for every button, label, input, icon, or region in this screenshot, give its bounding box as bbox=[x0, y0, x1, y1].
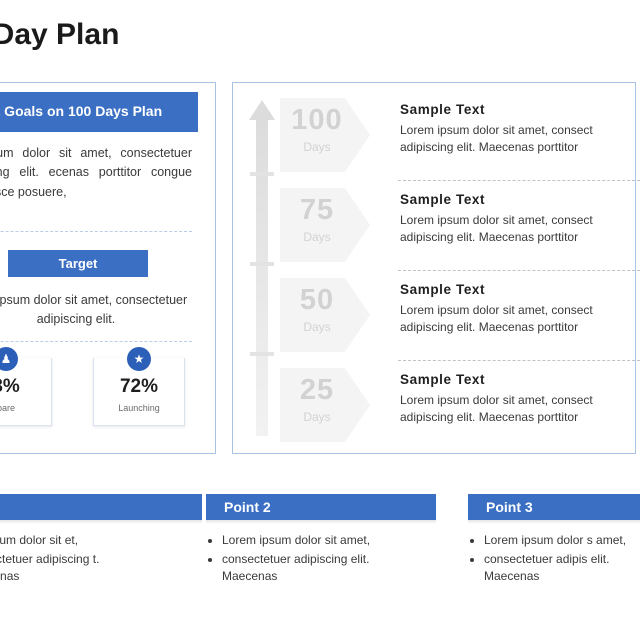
timeline-tick bbox=[250, 262, 274, 266]
arrow-head-icon bbox=[249, 100, 275, 120]
page-title: 0-Day Plan bbox=[0, 18, 119, 52]
point-header-1[interactable]: int 1 bbox=[0, 494, 202, 520]
point-list-3: Lorem ipsum dolor s amet, consectetuer a… bbox=[468, 532, 640, 587]
left-divider-2 bbox=[0, 341, 192, 342]
milestone-separator bbox=[398, 270, 640, 271]
milestone-title: Sample Text bbox=[400, 102, 485, 117]
milestone-title: Sample Text bbox=[400, 192, 485, 207]
point-header-shadow bbox=[206, 520, 436, 524]
milestone-item[interactable]: 100 Days Sample Text Lorem ipsum dolor s… bbox=[280, 94, 630, 184]
point-header-shadow bbox=[0, 520, 202, 524]
milestone-title: Sample Text bbox=[400, 372, 485, 387]
goal-header: et Goals on 100 Days Plan bbox=[0, 92, 198, 132]
timeline-tick bbox=[250, 172, 274, 176]
milestone-number: 50 bbox=[280, 284, 354, 317]
list-item: consectetuer adipiscing elit. Maecenas bbox=[222, 551, 416, 585]
milestone-unit: Days bbox=[280, 320, 354, 334]
left-divider-1 bbox=[0, 231, 192, 232]
stat-card[interactable]: ♟ 8% pare bbox=[0, 358, 52, 426]
list-item: consectetuer adipiscing t. Maecenas bbox=[0, 551, 128, 585]
point-header-3[interactable]: Point 3 bbox=[468, 494, 640, 520]
milestone-number: 25 bbox=[280, 374, 354, 407]
target-description: orem ipsum dolor sit amet, consectetuer … bbox=[0, 291, 192, 329]
list-item: em ipsum dolor sit et, bbox=[0, 532, 128, 549]
stat-label: pare bbox=[0, 403, 51, 413]
timeline-tick bbox=[250, 352, 274, 356]
timeline-arrow bbox=[249, 100, 275, 436]
milestone-title: Sample Text bbox=[400, 282, 485, 297]
arrow-shaft bbox=[256, 118, 268, 436]
point-list-2: Lorem ipsum dolor sit amet, consectetuer… bbox=[206, 532, 416, 587]
list-item: consectetuer adipis elit. Maecenas bbox=[484, 551, 640, 585]
star-icon: ★ bbox=[127, 347, 151, 371]
target-button[interactable]: Target bbox=[8, 250, 148, 277]
milestone-body: Lorem ipsum dolor sit amet, consect adip… bbox=[400, 212, 640, 247]
milestone-unit: Days bbox=[280, 230, 354, 244]
stat-card[interactable]: ★ 72% Launching bbox=[93, 358, 185, 426]
milestone-body: Lorem ipsum dolor sit amet, consect adip… bbox=[400, 302, 640, 337]
milestone-item[interactable]: 25 Days Sample Text Lorem ipsum dolor si… bbox=[280, 364, 630, 454]
milestone-item[interactable]: 75 Days Sample Text Lorem ipsum dolor si… bbox=[280, 184, 630, 274]
milestone-item[interactable]: 50 Days Sample Text Lorem ipsum dolor si… bbox=[280, 274, 630, 364]
point-header-shadow bbox=[468, 520, 640, 524]
list-item: Lorem ipsum dolor sit amet, bbox=[222, 532, 416, 549]
milestone-body: Lorem ipsum dolor sit amet, consect adip… bbox=[400, 122, 640, 157]
goal-body-text: em ipsum dolor sit amet, consectetuer ad… bbox=[0, 144, 192, 202]
milestone-separator bbox=[398, 180, 640, 181]
stat-value: 8% bbox=[0, 376, 51, 398]
stat-label: Launching bbox=[94, 403, 184, 413]
list-item: Lorem ipsum dolor s amet, bbox=[484, 532, 640, 549]
milestone-body: Lorem ipsum dolor sit amet, consect adip… bbox=[400, 392, 640, 427]
milestone-number: 100 bbox=[280, 104, 354, 137]
point-header-2[interactable]: Point 2 bbox=[206, 494, 436, 520]
milestone-unit: Days bbox=[280, 410, 354, 424]
milestone-separator bbox=[398, 360, 640, 361]
bell-icon: ♟ bbox=[0, 347, 18, 371]
milestone-number: 75 bbox=[280, 194, 354, 227]
milestone-unit: Days bbox=[280, 140, 354, 154]
stat-value: 72% bbox=[94, 376, 184, 398]
point-list-1: em ipsum dolor sit et, consectetuer adip… bbox=[0, 532, 128, 587]
